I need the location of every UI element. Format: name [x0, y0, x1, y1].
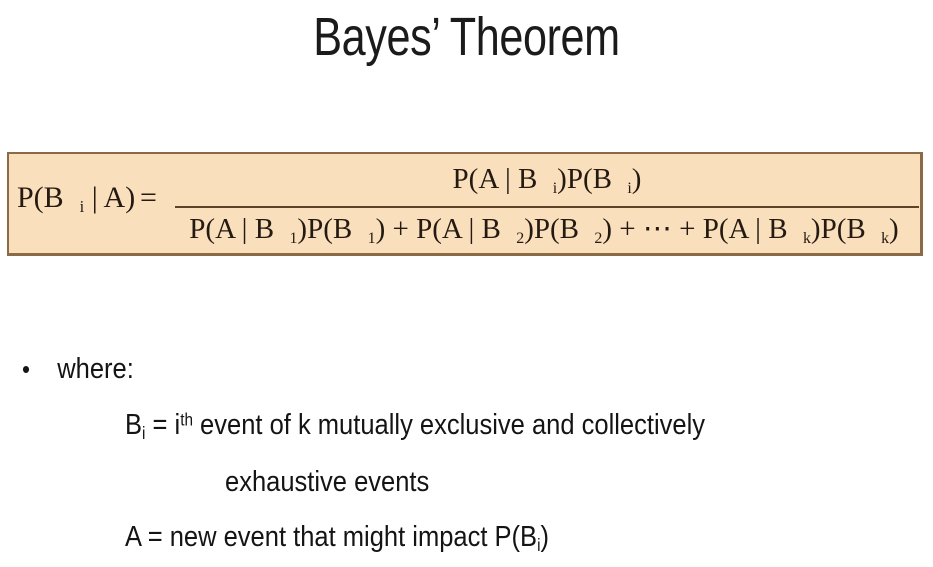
denominator-t3d: ): [889, 213, 899, 245]
bayes-formula: P(B i | A) = P(A | B i)P(B i) P(A | B 1)…: [9, 154, 920, 253]
definition-a-line: A = new event that might impact P(Bi): [125, 520, 549, 554]
definition-bi-symbol: B: [125, 409, 142, 441]
definition-bi-line: Bi = ith event of k mutually exclusive a…: [125, 408, 705, 442]
formula-lhs-tail: | A): [84, 181, 135, 214]
denominator-t1a: P(A: [189, 213, 234, 245]
formula-equals-sign: =: [140, 181, 157, 215]
fraction-bar: [175, 206, 919, 208]
denominator-t2d: ): [602, 213, 612, 245]
bayes-formula-box: P(B i | A) = P(A | B i)P(B i) P(A | B 1)…: [7, 152, 923, 256]
denominator-t2a: P(A: [416, 213, 461, 245]
definition-bi-text: event of k mutually exclusive and collec…: [193, 409, 705, 441]
where-label: where:: [57, 353, 134, 385]
denominator-t1d: ): [376, 213, 386, 245]
definition-bi-ordinal: th: [180, 409, 193, 429]
definition-a-prefix: A = new event that might impact P(B: [125, 521, 537, 553]
denominator-t1b: | B: [234, 213, 274, 245]
bullet-dot-icon: •: [22, 352, 57, 386]
denominator-t3a: P(A: [703, 213, 748, 245]
denominator-t3c: )P(B: [811, 213, 866, 245]
bullet-where: •where:: [22, 352, 134, 386]
denominator-ellipsis: + ⋯ +: [612, 213, 703, 245]
numerator-p2: )P(B: [557, 163, 612, 195]
denominator-t3-sub1: k: [803, 230, 811, 247]
numerator-p1: P(A: [453, 163, 498, 195]
numerator-p1-tail: | B: [498, 163, 538, 195]
definition-bi-continuation: exhaustive events: [225, 465, 429, 499]
formula-numerator: P(A | B i)P(B i): [175, 162, 919, 196]
definition-bi-equals: = i: [145, 409, 180, 441]
denominator-t2b: | B: [461, 213, 501, 245]
denominator-plus-1: +: [385, 213, 416, 245]
formula-lhs-head: P(B: [17, 181, 64, 214]
denominator-t3b: | B: [748, 213, 788, 245]
denominator-t1c: )P(B: [297, 213, 352, 245]
denominator-t2c: )P(B: [524, 213, 579, 245]
denominator-t3-sub2: k: [881, 230, 889, 247]
page-title: Bayes’ Theorem: [93, 4, 839, 70]
denominator-t1-sub2: 1: [368, 230, 376, 247]
definition-a-suffix: ): [540, 521, 549, 553]
numerator-p3: ): [632, 163, 642, 195]
formula-denominator: P(A | B 1)P(B 1) + P(A | B 2)P(B 2) + ⋯ …: [172, 212, 916, 246]
formula-lhs: P(B i | A): [17, 181, 135, 215]
